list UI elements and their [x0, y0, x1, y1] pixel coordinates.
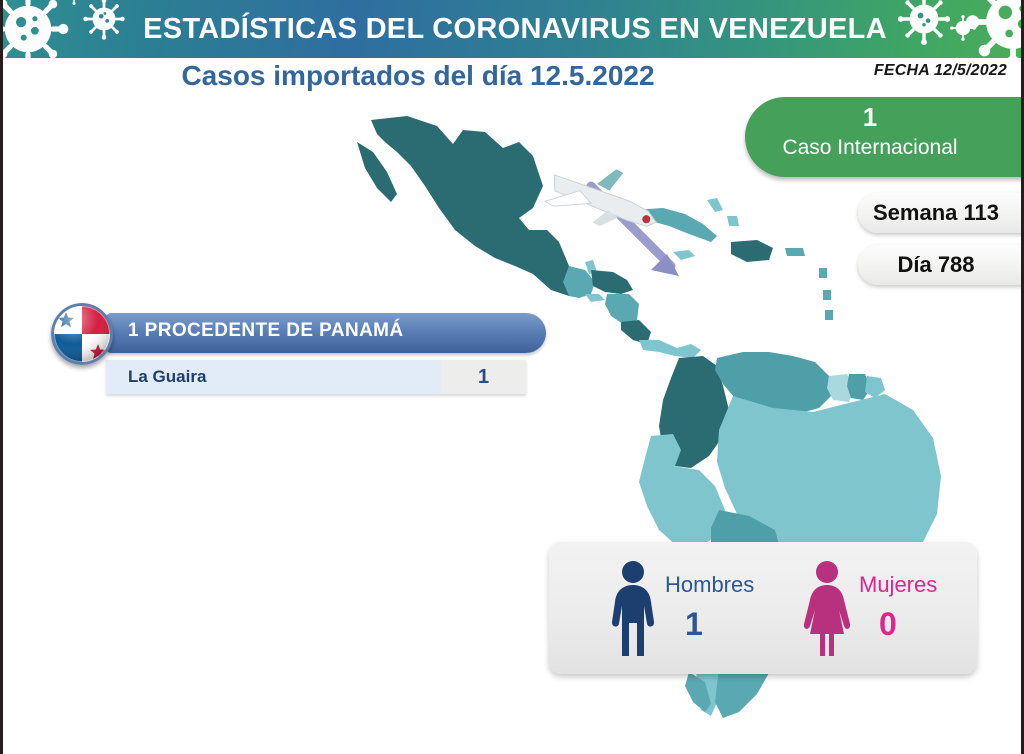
- infographic-page: ESTADÍSTICAS DEL CORONAVIRUS EN VENEZUEL…: [0, 0, 1024, 754]
- map-country-frenchguiana: [865, 376, 885, 398]
- origin-table: 1 PROCEDENTE DE PANAMÁ: [51, 303, 501, 408]
- gender-count-mujeres: 0: [879, 606, 897, 643]
- map-country-lesser-antilles: [819, 268, 833, 320]
- gender-panel: Hombres 1 Mujeres 0: [549, 542, 977, 674]
- map-country-honduras: [591, 270, 633, 294]
- male-figure-icon: [607, 560, 659, 656]
- day-badge: Día 788: [858, 245, 1024, 285]
- table-row: La Guaira 1: [106, 360, 526, 394]
- map-country-elsalvador: [585, 294, 605, 302]
- gender-label-mujeres: Mujeres: [859, 572, 937, 598]
- map-country-mexico: [357, 116, 577, 296]
- international-cases-count: 1: [745, 99, 1024, 135]
- subtitle: Casos importados del día 12.5.2022: [3, 60, 833, 92]
- panama-flag-icon: [51, 303, 113, 365]
- international-cases-badge: 1 Caso Internacional: [745, 97, 1024, 177]
- map-country-bahamas: [707, 198, 739, 226]
- female-figure-icon: [801, 560, 853, 656]
- origin-table-title: 1 PROCEDENTE DE PANAMÁ: [128, 320, 404, 342]
- map-country-hispaniola: [731, 240, 773, 262]
- map-country-nicaragua: [605, 294, 639, 324]
- international-cases-label: Caso Internacional: [745, 135, 1024, 161]
- week-badge: Semana 113: [858, 193, 1024, 233]
- header-band: ESTADÍSTICAS DEL CORONAVIRUS EN VENEZUEL…: [3, 0, 1024, 58]
- gender-label-hombres: Hombres: [665, 572, 754, 598]
- airplane-icon: [541, 145, 669, 252]
- map-country-puertorico: [785, 248, 805, 256]
- gender-count-hombres: 1: [685, 606, 703, 643]
- page-title: ESTADÍSTICAS DEL CORONAVIRUS EN VENEZUEL…: [3, 0, 1024, 58]
- map-country-panama: [639, 340, 701, 358]
- table-cell-state: La Guaira: [106, 360, 441, 394]
- map-country-jamaica: [673, 250, 695, 260]
- table-cell-count: 1: [441, 360, 526, 394]
- fecha-label: FECHA 12/5/2022: [874, 62, 1007, 80]
